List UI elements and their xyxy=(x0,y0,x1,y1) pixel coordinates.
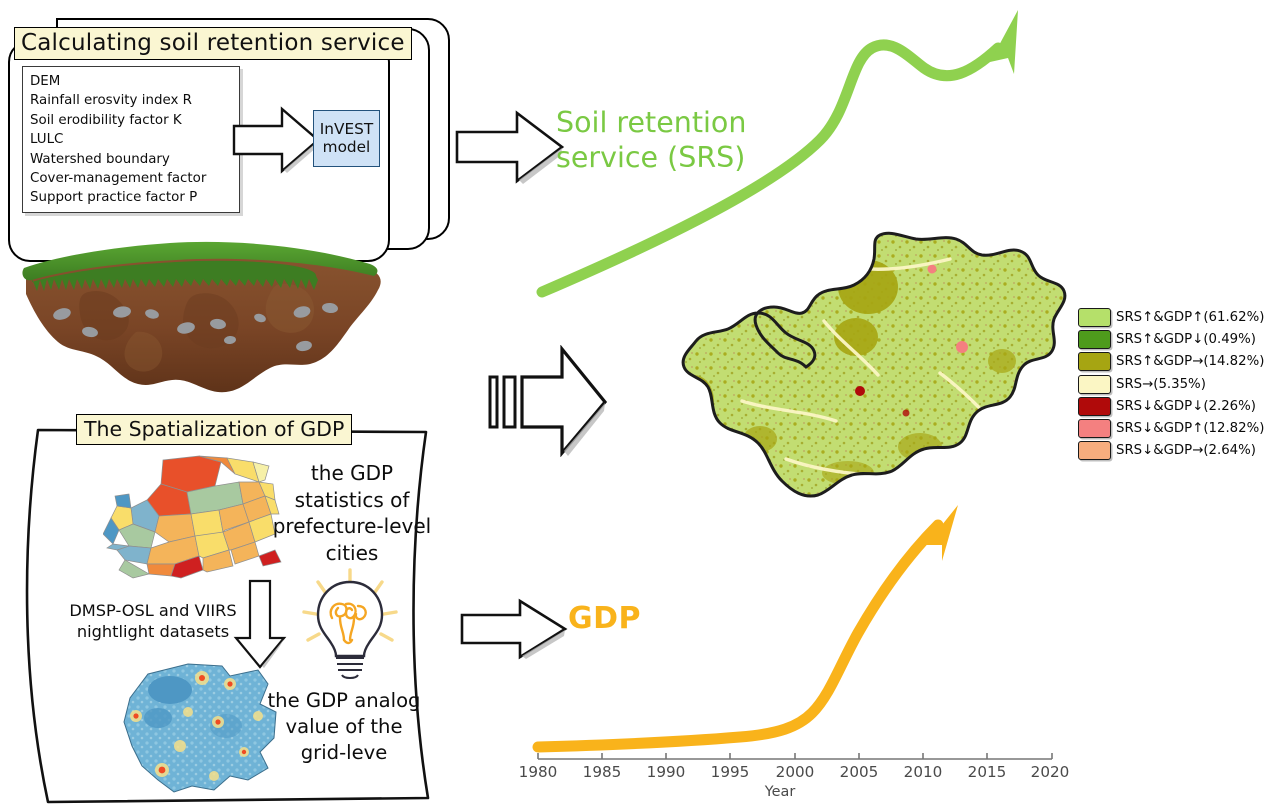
gdp-panel-title-banner: The Spatialization of GDP xyxy=(76,414,352,445)
invest-model-box: InVEST model xyxy=(313,110,380,167)
x-tick-label: 1995 xyxy=(711,763,750,781)
arrow-right-icon-inputs-to-model xyxy=(232,104,320,176)
x-tick-label: 1990 xyxy=(647,763,686,781)
arrow-right-icon-dashed-to-map xyxy=(488,345,608,457)
legend-label: SRS↑&GDP→(14.82%) xyxy=(1116,354,1264,369)
list-item: Watershed boundary xyxy=(30,150,233,169)
x-tick-label: 2020 xyxy=(1031,763,1070,781)
nightlight-dataset-caption: DMSP-OSL and VIIRS nightlight datasets xyxy=(42,600,264,642)
model-inputs-list: DEM Rainfall erosvity index R Soil erodi… xyxy=(30,72,233,208)
soil-panel-title-banner: Calculating soil retention service xyxy=(14,27,412,60)
invest-model-line1: InVEST xyxy=(320,121,373,139)
legend-label: SRS↓&GDP↑(12.82%) xyxy=(1116,421,1264,436)
legend-item[interactable]: SRS↑&GDP→(14.82%) xyxy=(1078,351,1268,373)
x-tick-label: 2005 xyxy=(840,763,879,781)
caption-line: statistics of xyxy=(272,487,432,514)
x-tick-label: 2000 xyxy=(776,763,815,781)
legend-item[interactable]: SRS→(5.35%) xyxy=(1078,373,1268,395)
lightbulb-gdp-icon xyxy=(292,566,408,682)
list-item: Soil erodibility factor K xyxy=(30,111,233,130)
x-tick-label: 1980 xyxy=(519,763,558,781)
legend-swatch-srs-up-gdp-up xyxy=(1078,308,1111,327)
srs-gdp-bivariate-map xyxy=(610,225,1080,525)
caption-line: prefecture-level xyxy=(272,513,432,540)
arrow-down-icon-gdp-process xyxy=(232,578,288,670)
map-legend: SRS↑&GDP↑(61.62%) SRS↑&GDP↓(0.49%) SRS↑&… xyxy=(1078,306,1268,462)
list-item: DEM xyxy=(30,72,233,91)
invest-model-line2: model xyxy=(323,139,371,157)
list-item: LULC xyxy=(30,130,233,149)
legend-label: SRS↑&GDP↑(61.62%) xyxy=(1116,310,1264,325)
x-tick-label: 2010 xyxy=(904,763,943,781)
caption-line: the GDP xyxy=(272,460,432,487)
model-inputs-box: DEM Rainfall erosvity index R Soil erodi… xyxy=(22,66,240,213)
legend-swatch-srs-down-gdp-up xyxy=(1078,419,1111,438)
caption-line: the GDP analog xyxy=(258,688,430,714)
legend-swatch-srs-down-gdp-down xyxy=(1078,397,1111,416)
list-item: Cover-management factor xyxy=(30,169,233,188)
list-item: Rainfall erosvity index R xyxy=(30,91,233,110)
list-item: Support practice factor P xyxy=(30,188,233,207)
gdp-grid-value-caption: the GDP analog value of the grid-leve xyxy=(258,688,430,766)
legend-swatch-srs-up-gdp-stable xyxy=(1078,352,1111,371)
caption-line: grid-leve xyxy=(258,740,430,766)
soil-block-illustration xyxy=(18,222,388,412)
legend-item[interactable]: SRS↓&GDP↓(2.26%) xyxy=(1078,395,1268,417)
legend-swatch-srs-down-gdp-stable xyxy=(1078,441,1111,460)
legend-item[interactable]: SRS↑&GDP↓(0.49%) xyxy=(1078,328,1268,350)
legend-swatch-srs-up-gdp-down xyxy=(1078,330,1111,349)
x-axis-title: Year xyxy=(765,784,795,800)
gdp-trend-chart: 1980 1985 1990 1995 2000 2005 2010 2015 … xyxy=(490,505,1070,809)
legend-swatch-srs-stable xyxy=(1078,375,1111,394)
legend-label: SRS↑&GDP↓(0.49%) xyxy=(1116,332,1256,347)
legend-item[interactable]: SRS↓&GDP↑(12.82%) xyxy=(1078,417,1268,439)
gdp-statistics-choropleth-map xyxy=(103,452,288,580)
caption-line: value of the xyxy=(258,714,430,740)
caption-line: cities xyxy=(272,540,432,567)
figure-canvas: Calculating soil retention service DEM R… xyxy=(0,0,1268,809)
legend-label: SRS↓&GDP↓(2.26%) xyxy=(1116,399,1256,414)
legend-label: SRS↓&GDP→(2.64%) xyxy=(1116,443,1256,458)
legend-label: SRS→(5.35%) xyxy=(1116,377,1206,392)
caption-line: DMSP-OSL and VIIRS xyxy=(42,600,264,621)
legend-item[interactable]: SRS↑&GDP↑(61.62%) xyxy=(1078,306,1268,328)
gdp-statistics-caption: the GDP statistics of prefecture-level c… xyxy=(272,460,432,566)
caption-line: nightlight datasets xyxy=(42,621,264,642)
legend-item[interactable]: SRS↓&GDP→(2.64%) xyxy=(1078,440,1268,462)
x-tick-label: 2015 xyxy=(968,763,1007,781)
x-tick-label: 1985 xyxy=(583,763,622,781)
